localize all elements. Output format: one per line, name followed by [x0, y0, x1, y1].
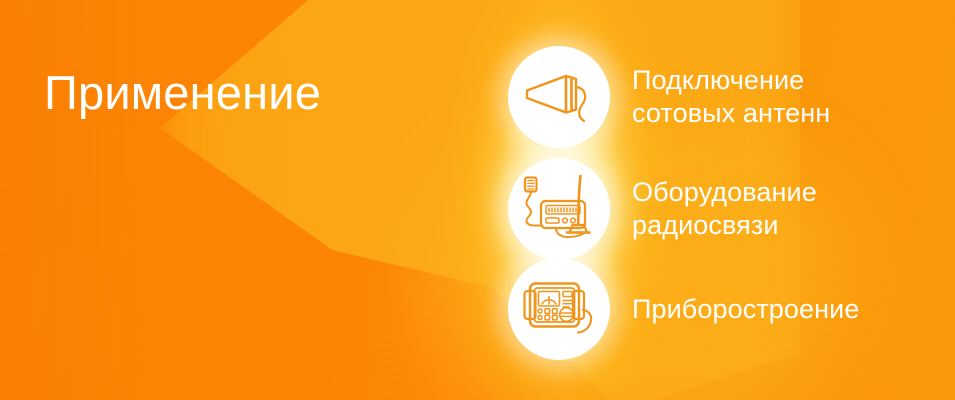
radio-transceiver-icon	[520, 172, 598, 246]
icon-badge	[508, 258, 610, 360]
measurement-instrument-icon	[521, 277, 597, 341]
application-banner: Применение Подключение сотовых ант	[0, 0, 955, 400]
list-item-label: Оборудование радиосвязи	[632, 176, 817, 242]
list-item[interactable]: Оборудование радиосвязи	[508, 158, 817, 260]
list-item-label: Подключение сотовых антенн	[632, 64, 830, 130]
horn-antenna-icon	[522, 67, 596, 127]
icon-badge	[508, 158, 610, 260]
list-item[interactable]: Подключение сотовых антенн	[508, 46, 830, 148]
application-list: Подключение сотовых антенн	[0, 0, 955, 400]
icon-badge	[508, 46, 610, 148]
list-item-label: Приборостроение	[632, 293, 859, 326]
list-item[interactable]: Приборостроение	[508, 258, 859, 360]
